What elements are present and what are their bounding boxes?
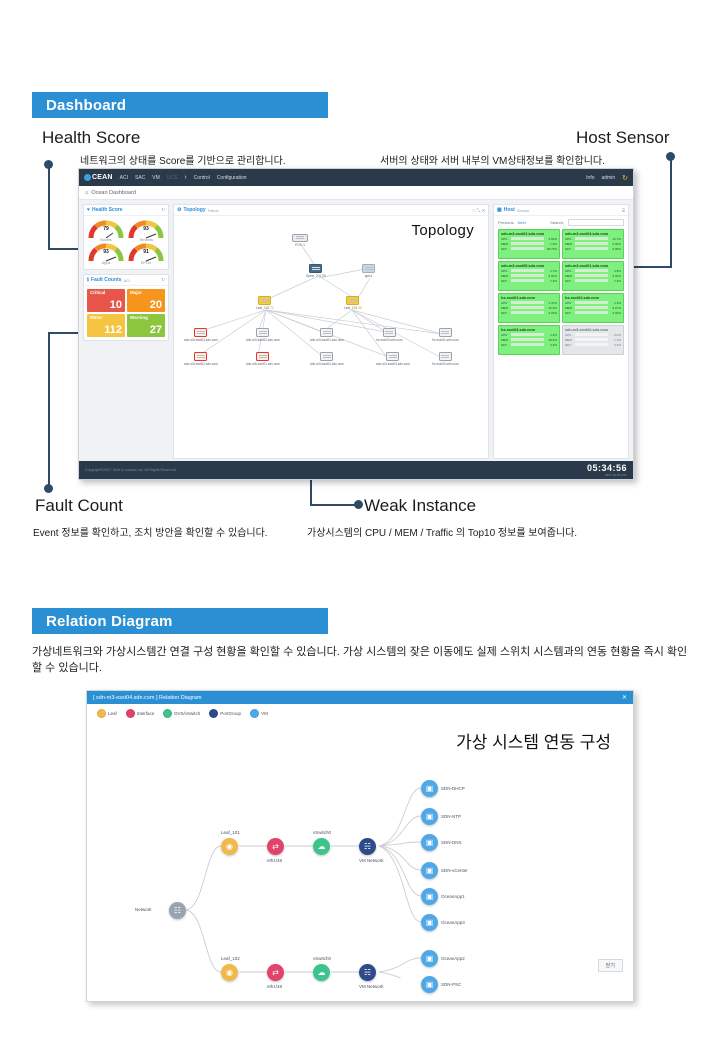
host-tile-1[interactable]: sdn-m3-esxi02.sdn.com CPU 3.63% MEM 7.9% [498, 229, 560, 259]
topology-host-r1c3-label: sdn-m3-esxi01.sdn.com [310, 338, 344, 342]
topology-node-pod-label: POD-1 [295, 243, 305, 247]
leader-line-health-vertical [48, 164, 50, 250]
host-tile-7-mem-bar [511, 338, 544, 340]
host-sensor-header: ▦ Host Sensor ⌸ [494, 205, 628, 216]
topology-host-r1c5[interactable]: hx-esxi01.sdn.com [432, 328, 459, 342]
host-tile-4-name: sdn-m3-esxi01.sdn.com [565, 264, 621, 268]
host-tile-6-mem: MEM 9.27% [565, 306, 621, 310]
legend-item-vm[interactable]: VM [250, 709, 268, 718]
topology-host-r1c2[interactable]: sdn-m3-esxi02.sdn.com [246, 328, 280, 342]
fault-counts-header: ℹ Fault Counts ACI ↻ [84, 275, 168, 286]
nav-item-configuration[interactable]: Configuration [217, 175, 247, 181]
vm-icon-5: ▣ [421, 888, 438, 905]
breadcrumb: ⌂ Ocean Dashboard [79, 186, 633, 200]
host-tile-2-mem-value: 0.09% [609, 242, 621, 246]
relation-node-vm-oceanapp2[interactable]: ▣ OceanApp2 [421, 950, 465, 967]
host-tile-3-name: sdn-m3-esxi05.sdn.com [501, 264, 557, 268]
topology-node-spine-label: Spine_201 98 [306, 274, 326, 278]
host-tile-1-net: NET 48.73% [501, 247, 557, 251]
host-tile-6-mem-key: MEM [565, 306, 574, 310]
host-tile-4-net-key: NET [565, 279, 574, 283]
topology-node-leaf-101-label: Leaf_101 68 [344, 306, 362, 310]
host-tile-4-mem-bar [575, 274, 608, 276]
topology-host-r1c3[interactable]: sdn-m3-esxi01.sdn.com [310, 328, 344, 342]
topology-host-r2c4-label: sdn-m3-esxi03.sdn.com [376, 362, 410, 366]
host-tile-4-cpu-value: 3.8% [609, 269, 621, 273]
fault-counts-card: ℹ Fault Counts ACI ↻ Critical 10 Major 2… [83, 274, 169, 341]
relation-node-leaf-102-label: Leaf_102 [221, 956, 240, 961]
host-icon-red-3 [256, 352, 269, 361]
host-tile-8-mem: MEM 7.1% [565, 338, 621, 342]
topology-host-r2c3-label: sdn-m3-esxi04.sdn.com [310, 362, 344, 366]
host-tile-6-mem-bar [575, 306, 608, 308]
relation-node-vm-sdn-ntp-label: SDN-NTP [441, 814, 461, 819]
host-tile-1-name: sdn-m3-esxi02.sdn.com [501, 232, 557, 236]
relation-node-vswitch-101-label: vSwitch0 [313, 830, 331, 835]
host-tile-3-mem-value: 2.02% [545, 274, 557, 278]
host-sensor-grid: sdn-m3-esxi02.sdn.com CPU 3.63% MEM 7.9% [494, 229, 628, 359]
callout-title-health-score: Health Score [42, 128, 140, 148]
topology-host-r2c5-label: hx-esxi02.sdn.com [432, 362, 459, 366]
host-tile-5-mem: MEM 32.9% [501, 306, 557, 310]
topology-icon: ⚙ [177, 207, 181, 213]
host-icon-4 [439, 328, 452, 337]
host-tile-8-name: sdn-m5-esxi02.sdn.com [565, 328, 621, 332]
health-gauge-grid: 79 Nodes 93 Tenants [84, 216, 168, 269]
host-tile-6-name: hx-esxi02.sdn.com [565, 296, 621, 300]
fault-tile-critical[interactable]: Critical 10 [87, 289, 125, 312]
leaf-switch-icon-2 [346, 296, 359, 305]
pod-icon [292, 234, 308, 242]
host-tile-7-net-key: NET [501, 343, 510, 347]
relation-node-interface-102-label: eth1/48 [267, 984, 282, 989]
topology-header: ⚙ Topology Fabric □ ⤡ ✕ [174, 205, 488, 216]
footer-clock-date: 2017-10-25 KST [587, 473, 627, 477]
host-sensor-subtitle: Sensor [517, 208, 530, 213]
callout-title-host-sensor: Host Sensor [576, 128, 670, 148]
host-tile-7[interactable]: hx-esxi03.sdn.com CPU 1.4% MEM 28.5% [498, 325, 560, 355]
relation-node-vm-oceanapp3-label: OceanApp3 [441, 920, 465, 925]
breadcrumb-label: Ocean Dashboard [91, 190, 136, 196]
dashboard-middle-column: ⚙ Topology Fabric □ ⤡ ✕ Topology [173, 204, 489, 459]
gauge-apps-value: 93 [103, 249, 109, 255]
topology-host-r1c1[interactable]: sdn-m5-esxi03.sdn.com [184, 328, 218, 342]
host-tile-7-cpu-value: 1.4% [545, 333, 557, 337]
host-tile-7-mem: MEM 28.5% [501, 338, 557, 342]
host-tile-1-cpu: CPU 3.63% [501, 237, 557, 241]
relation-paragraph: 가상네트워크와 가상시스템간 연결 구성 현황을 확인할 수 있습니다. 가상 … [32, 644, 692, 676]
host-tile-4-net-bar [575, 279, 608, 281]
leaf-icon: ◉ [221, 838, 238, 855]
fault-counts-title: Fault Counts [91, 277, 122, 283]
topology-card: ⚙ Topology Fabric □ ⤡ ✕ Topology [173, 204, 489, 459]
fault-tile-minor-label: Minor [90, 315, 122, 320]
host-tile-5-cpu: CPU 1.47% [501, 301, 557, 305]
app-navbar: CEAN ACI SAC VM UCS › Control Configurat… [79, 169, 633, 186]
host-tile-4-mem-value: 3.02% [609, 274, 621, 278]
host-tile-1-cpu-value: 3.63% [545, 237, 557, 241]
host-tile-1-net-key: NET [501, 247, 510, 251]
fault-tile-major[interactable]: Major 20 [127, 289, 165, 312]
host-next-button[interactable]: Next [518, 220, 526, 225]
host-tile-1-cpu-key: CPU [501, 237, 510, 241]
host-tile-3[interactable]: sdn-m3-esxi05.sdn.com CPU 1.7% MEM 2.02% [498, 261, 560, 291]
host-tile-8-net-bar [575, 343, 608, 345]
host-prev-button[interactable]: Previous [498, 220, 514, 225]
callout-desc-health-score: 네트워크의 상태를 Score를 기반으로 관리합니다. [80, 152, 286, 167]
host-tile-5-mem-key: MEM [501, 306, 510, 310]
fault-tile-warning[interactable]: Warning 27 [127, 314, 165, 337]
topology-title: Topology [183, 207, 205, 213]
dashboard-body: ♥ Health Score ↻ 79 [79, 200, 633, 463]
fault-refresh-icon[interactable]: ↻ [161, 277, 165, 283]
host-tile-8-net-value: 2.4% [609, 343, 621, 347]
gauge-epgs-label: EPGs [141, 260, 151, 265]
chevron-right-icon[interactable]: › [184, 174, 186, 181]
dashboard-left-column: ♥ Health Score ↻ 79 [83, 204, 169, 459]
relation-node-portgroup-102[interactable]: ☵ VM Network [359, 964, 376, 981]
topology-node-pod[interactable]: POD-1 [292, 234, 308, 247]
app-logo[interactable]: CEAN [84, 174, 113, 181]
logo-mark-icon [84, 174, 91, 181]
relation-node-interface-102[interactable]: ⇄ eth1/48 [267, 964, 284, 981]
nav-item-sac[interactable]: SAC [135, 175, 145, 181]
footer-clock: 05:34:56 [587, 463, 627, 473]
topology-window-controls[interactable]: □ ⤡ ✕ [473, 208, 485, 213]
fault-tile-warning-count: 27 [130, 325, 162, 336]
host-tile-1-mem-value: 7.9% [545, 242, 557, 246]
relation-node-vm-oceanapp1-label: OceanApp1 [441, 894, 465, 899]
host-tile-3-net-bar [511, 279, 544, 281]
host-sensor-toolbar: Previous Next Search: [494, 216, 628, 229]
topology-host-r2c1[interactable]: sdn-m5-esxi02.sdn.com [184, 352, 218, 366]
callout-title-fault-count: Fault Count [35, 496, 123, 516]
host-tile-8-cpu-value: 0.0% [609, 333, 621, 337]
health-score-card: ♥ Health Score ↻ 79 [83, 204, 169, 270]
topology-host-r2c1-label: sdn-m5-esxi02.sdn.com [184, 362, 218, 366]
home-icon: ⌂ [85, 190, 88, 196]
grid-view-icon[interactable]: ⌸ [622, 208, 625, 213]
relation-node-vm-sdn-ntp[interactable]: ▣ SDN-NTP [421, 808, 461, 825]
vm-icon-3: ▣ [421, 834, 438, 851]
fault-counts-subtitle: ACI [123, 278, 130, 283]
host-tile-3-net-key: NET [501, 279, 510, 283]
relation-node-vm-sdn-dhcp-label: SDN-DHCP [441, 786, 465, 791]
host-tile-7-mem-value: 28.5% [545, 338, 557, 342]
host-sensor-card: ▦ Host Sensor ⌸ Previous Next Search: sd… [493, 204, 629, 459]
host-tile-1-mem-bar [511, 242, 544, 244]
topology-host-r2c4[interactable]: sdn-m3-esxi03.sdn.com [376, 352, 410, 366]
topology-host-r2c5[interactable]: hx-esxi02.sdn.com [432, 352, 459, 366]
relation-node-vm-sdn-dhcp[interactable]: ▣ SDN-DHCP [421, 780, 465, 797]
close-icon[interactable]: ✕ [622, 694, 627, 701]
relation-node-vswitch-102-label: vSwitch0 [313, 956, 331, 961]
host-tile-5-net-bar [511, 311, 544, 313]
host-tile-7-name: hx-esxi03.sdn.com [501, 328, 557, 332]
legend-item-dvs-vswitch[interactable]: DVS/vSwitch [163, 709, 200, 718]
topology-host-r1c4-label: hx-esxi03.sdn.com [376, 338, 403, 342]
host-tile-7-cpu-key: CPU [501, 333, 510, 337]
fault-tile-minor-count: 112 [90, 325, 122, 336]
nav-item-user[interactable]: admin [602, 175, 616, 181]
relation-node-vm-sdn-vcenter[interactable]: ▣ SDN-vCenter [421, 862, 468, 879]
topology-node-leaf-102[interactable]: Leaf_102 72 [256, 296, 274, 310]
relation-node-leaf-101[interactable]: ◉ Leaf_101 [221, 838, 238, 855]
relation-node-vm-oceanapp3[interactable]: ▣ OceanApp3 [421, 914, 465, 931]
relation-node-portgroup-101-label: VM Network [359, 858, 384, 863]
host-tile-8-mem-value: 7.1% [609, 338, 621, 342]
legend-item-leaf[interactable]: Leaf [97, 709, 117, 718]
relation-node-portgroup-102-label: VM Network [359, 984, 384, 989]
host-tile-6-net: NET 3.03% [565, 311, 621, 315]
host-tile-5[interactable]: hx-esxi01.sdn.com CPU 1.47% MEM 32.9% [498, 293, 560, 323]
gauge-epgs: 91 EPGs [126, 242, 166, 265]
host-tile-5-name: hx-esxi01.sdn.com [501, 296, 557, 300]
callout-desc-host-sensor: 서버의 상태와 서버 내부의 VM상태정보를 확인합니다. [380, 152, 605, 167]
relation-canvas[interactable]: 가상 시스템 연동 구성 ☷ [87, 720, 633, 978]
host-tile-6-cpu-bar [575, 301, 608, 303]
relation-node-network-label: Network [135, 907, 152, 912]
host-tile-3-mem-key: MEM [501, 274, 510, 278]
nav-item-aci[interactable]: ACI [120, 175, 128, 181]
section-banner-relation-label: Relation Diagram [46, 613, 173, 630]
vm-icon-7: ▣ [421, 950, 438, 967]
topology-subtitle: Fabric [208, 208, 219, 213]
topology-node-leaf-102-label: Leaf_102 72 [256, 306, 274, 310]
host-tile-5-mem-value: 32.9% [545, 306, 557, 310]
relation-node-vswitch-101[interactable]: ☁ vSwitch0 [313, 838, 330, 855]
relation-window-titlebar: [ sdn-m3-esxi04.sdn.com ] Relation Diagr… [87, 691, 633, 704]
host-icon-red-2 [194, 352, 207, 361]
relation-node-interface-101[interactable]: ⇄ eth1/48 [267, 838, 284, 855]
host-tile-8-net-key: NET [565, 343, 574, 347]
apic-controller-icon [362, 264, 375, 273]
relation-node-vm-sdn-psc[interactable]: ▣ SDN-PSC [421, 976, 461, 993]
relation-node-vm-sdn-dns[interactable]: ▣ SDN-DNS [421, 834, 462, 851]
host-tile-7-net-bar [511, 343, 544, 345]
host-tile-4[interactable]: sdn-m3-esxi01.sdn.com CPU 3.8% MEM 3.02% [562, 261, 624, 291]
health-refresh-icon[interactable]: ↻ [161, 207, 165, 213]
leaf-switch-icon [258, 296, 271, 305]
host-icon-7 [439, 352, 452, 361]
host-tile-7-cpu-bar [511, 333, 544, 335]
topology-canvas[interactable]: Topology [174, 216, 488, 458]
host-icon-1 [256, 328, 269, 337]
fault-counts-grid: Critical 10 Major 20 Minor 112 Warning 2… [84, 286, 168, 340]
relation-node-leaf-102[interactable]: ◉ Leaf_102 [221, 964, 238, 981]
host-tile-2-cpu-bar [575, 237, 608, 239]
vm-icon-8: ▣ [421, 976, 438, 993]
host-tile-3-mem-bar [511, 274, 544, 276]
app-logo-text: CEAN [92, 174, 113, 181]
relation-diagram-window: [ sdn-m3-esxi04.sdn.com ] Relation Diagr… [86, 690, 634, 1002]
relation-close-button[interactable]: 닫기 [598, 959, 623, 972]
gauge-nodes: 79 Nodes [86, 219, 126, 242]
host-tile-7-cpu: CPU 1.4% [501, 333, 557, 337]
footer-copyright: Copyright©2017. Snet & cuvoiss Inc. All … [85, 468, 587, 472]
footer-clock-wrap: 05:34:56 2017-10-25 KST [587, 463, 627, 477]
host-tile-1-mem: MEM 7.9% [501, 242, 557, 246]
topology-host-r2c2[interactable]: sdn-m5-esxi01.sdn.com [246, 352, 280, 366]
fault-tile-major-count: 20 [130, 300, 162, 311]
host-tile-4-cpu-key: CPU [565, 269, 574, 273]
fault-tile-critical-count: 10 [90, 300, 122, 311]
legend-item-interface[interactable]: Interface [126, 709, 155, 718]
network-icon: ☷ [169, 902, 186, 919]
nav-item-ucs: UCS [167, 175, 178, 181]
fault-tile-minor[interactable]: Minor 112 [87, 314, 125, 337]
fault-tile-warning-label: Warning [130, 315, 162, 320]
topology-node-leaf-101[interactable]: Leaf_101 68 [344, 296, 362, 310]
host-tile-3-net-value: 7.4% [545, 279, 557, 283]
nav-item-control[interactable]: Control [194, 175, 210, 181]
host-tile-4-mem-key: MEM [565, 274, 574, 278]
section-banner-dashboard-label: Dashboard [46, 97, 126, 114]
host-tile-3-net: NET 7.4% [501, 279, 557, 283]
host-tile-6-mem-value: 9.27% [609, 306, 621, 310]
host-tile-2-mem-bar [575, 242, 608, 244]
leader-line-host-vertical [670, 156, 672, 268]
host-tile-6-net-key: NET [565, 311, 574, 315]
host-tile-3-cpu-bar [511, 269, 544, 271]
legend-item-portgroup[interactable]: PortGroup [209, 709, 241, 718]
topology-host-r2c3[interactable]: sdn-m3-esxi04.sdn.com [310, 352, 344, 366]
host-tile-4-mem: MEM 3.02% [565, 274, 621, 278]
section-banner-dashboard: Dashboard [32, 92, 328, 118]
host-tile-2-mem: MEM 0.09% [565, 242, 621, 246]
gauge-apps: 93 Apps [86, 242, 126, 265]
heart-icon: ♥ [87, 207, 90, 213]
gauge-nodes-value: 79 [103, 226, 109, 232]
host-tile-1-net-bar [511, 247, 544, 249]
callout-desc-fault-count: Event 정보를 확인하고, 조치 방안을 확인할 수 있습니다. [33, 524, 268, 539]
dashboard-screenshot: CEAN ACI SAC VM UCS › Control Configurat… [78, 168, 634, 480]
relation-node-vm-sdn-psc-label: SDN-PSC [441, 982, 461, 987]
vm-icon-6: ▣ [421, 914, 438, 931]
host-tile-2-net-key: NET [565, 247, 574, 251]
leader-line-weak-horizontal [310, 504, 356, 506]
host-tile-5-cpu-value: 1.47% [545, 301, 557, 305]
topology-host-r1c4[interactable]: hx-esxi03.sdn.com [376, 328, 403, 342]
portgroup-icon: ☵ [359, 838, 376, 855]
relation-node-network[interactable]: ☷ Network [169, 902, 186, 919]
topology-node-apic[interactable]: apic1 [362, 264, 375, 278]
host-tile-7-net-value: 3.4% [545, 343, 557, 347]
interface-icon-2: ⇄ [267, 964, 284, 981]
gauge-epgs-value: 91 [143, 249, 149, 255]
host-tile-4-net: NET 7.4% [565, 279, 621, 283]
host-tile-3-mem: MEM 2.02% [501, 274, 557, 278]
dashboard-right-column: ▦ Host Sensor ⌸ Previous Next Search: sd… [493, 204, 629, 459]
host-tile-7-mem-key: MEM [501, 338, 510, 342]
callout-title-weak-instance: Weak Instance [364, 496, 476, 516]
topology-host-r1c5-label: hx-esxi01.sdn.com [432, 338, 459, 342]
vm-icon-1: ▣ [421, 780, 438, 797]
relation-window-title: [ sdn-m3-esxi04.sdn.com ] Relation Diagr… [93, 695, 202, 701]
host-tile-5-net: NET 3.23% [501, 311, 557, 315]
host-icon-3 [383, 328, 396, 337]
host-tile-2-net: NET 6.05% [565, 247, 621, 251]
host-icon-6 [386, 352, 399, 361]
host-sensor-icon: ▦ [497, 207, 502, 213]
host-tile-5-cpu-bar [511, 301, 544, 303]
vm-icon-4: ▣ [421, 862, 438, 879]
refresh-icon[interactable]: ↻ [622, 174, 628, 182]
host-tile-8-mem-bar [575, 338, 608, 340]
relation-node-vswitch-102[interactable]: ☁ vSwitch0 [313, 964, 330, 981]
portgroup-icon-2: ☵ [359, 964, 376, 981]
host-tile-6-net-bar [575, 311, 608, 313]
topology-node-apic-label: apic1 [365, 274, 373, 278]
host-tile-2-mem-key: MEM [565, 242, 574, 246]
host-tile-4-net-value: 7.4% [609, 279, 621, 283]
gauge-tenants: 93 Tenants [126, 219, 166, 242]
relation-node-vm-oceanapp2-label: OceanApp2 [441, 956, 465, 961]
host-sensor-title: Host [504, 207, 515, 213]
relation-node-vm-sdn-vcenter-label: SDN-vCenter [441, 868, 468, 873]
host-tile-5-mem-bar [511, 306, 544, 308]
host-tile-1-net-value: 48.73% [545, 247, 557, 251]
topology-host-r1c2-label: sdn-m3-esxi02.sdn.com [246, 338, 280, 342]
chart-vm-cpu-title: VM CPU(%) [208, 479, 323, 480]
host-tile-1-mem-key: MEM [501, 242, 510, 246]
section-banner-relation: Relation Diagram [32, 608, 328, 634]
host-tile-2[interactable]: sdn-m3-esxi04.sdn.com CPU 12.7% MEM 0.09… [562, 229, 624, 259]
host-tile-3-cpu-key: CPU [501, 269, 510, 273]
interface-icon: ⇄ [267, 838, 284, 855]
host-tile-6-cpu-value: 1.3% [609, 301, 621, 305]
host-tile-8-cpu-bar [575, 333, 608, 335]
topology-host-r2c2-label: sdn-m5-esxi01.sdn.com [246, 362, 280, 366]
vswitch-icon-2: ☁ [313, 964, 330, 981]
host-tile-8-cpu-key: CPU [565, 333, 574, 337]
leader-line-fault-vertical [48, 332, 50, 488]
host-tile-4-cpu: CPU 3.8% [565, 269, 621, 273]
host-tile-5-net-value: 3.23% [545, 311, 557, 315]
relation-legend: Leaf Interface DVS/vSwitch PortGroup VM [87, 704, 633, 720]
host-tile-8[interactable]: sdn-m5-esxi02.sdn.com CPU 0.0% MEM 7.1% [562, 325, 624, 355]
dashboard-footer: Copyright©2017. Snet & cuvoiss Inc. All … [79, 461, 633, 479]
gauge-tenants-value: 93 [143, 226, 149, 232]
relation-node-vm-oceanapp1[interactable]: ▣ OceanApp1 [421, 888, 465, 905]
host-tile-8-mem-key: MEM [565, 338, 574, 342]
host-tile-5-cpu-key: CPU [501, 301, 510, 305]
host-tile-2-name: sdn-m3-esxi04.sdn.com [565, 232, 621, 236]
host-tile-6[interactable]: hx-esxi02.sdn.com CPU 1.3% MEM 9.27% [562, 293, 624, 323]
nav-item-vm[interactable]: VM [152, 175, 160, 181]
chart-vm-memory-title: VM Memory(%) [88, 479, 203, 480]
gauge-apps-label: Apps [101, 260, 110, 265]
nav-item-info[interactable]: Info [586, 175, 594, 181]
host-tile-2-cpu: CPU 12.7% [565, 237, 621, 241]
host-tile-2-cpu-key: CPU [565, 237, 574, 241]
vswitch-icon: ☁ [313, 838, 330, 855]
topology-node-spine[interactable]: Spine_201 98 [306, 264, 326, 278]
host-search-input[interactable] [568, 219, 624, 226]
host-icon-2 [320, 328, 333, 337]
host-tile-2-net-value: 6.05% [609, 247, 621, 251]
host-search-label: Search: [550, 220, 564, 225]
relation-node-portgroup-101[interactable]: ☵ VM Network [359, 838, 376, 855]
callout-desc-weak-instance: 가상시스템의 CPU / MEM / Traffic 의 Top10 정보를 보… [307, 524, 577, 539]
relation-node-interface-101-label: eth1/48 [267, 858, 282, 863]
host-tile-3-cpu: CPU 1.7% [501, 269, 557, 273]
leaf-icon-2: ◉ [221, 964, 238, 981]
health-score-header: ♥ Health Score ↻ [84, 205, 168, 216]
host-tile-7-net: NET 3.4% [501, 343, 557, 347]
relation-node-leaf-101-label: Leaf_101 [221, 830, 240, 835]
host-icon-red [194, 328, 207, 337]
